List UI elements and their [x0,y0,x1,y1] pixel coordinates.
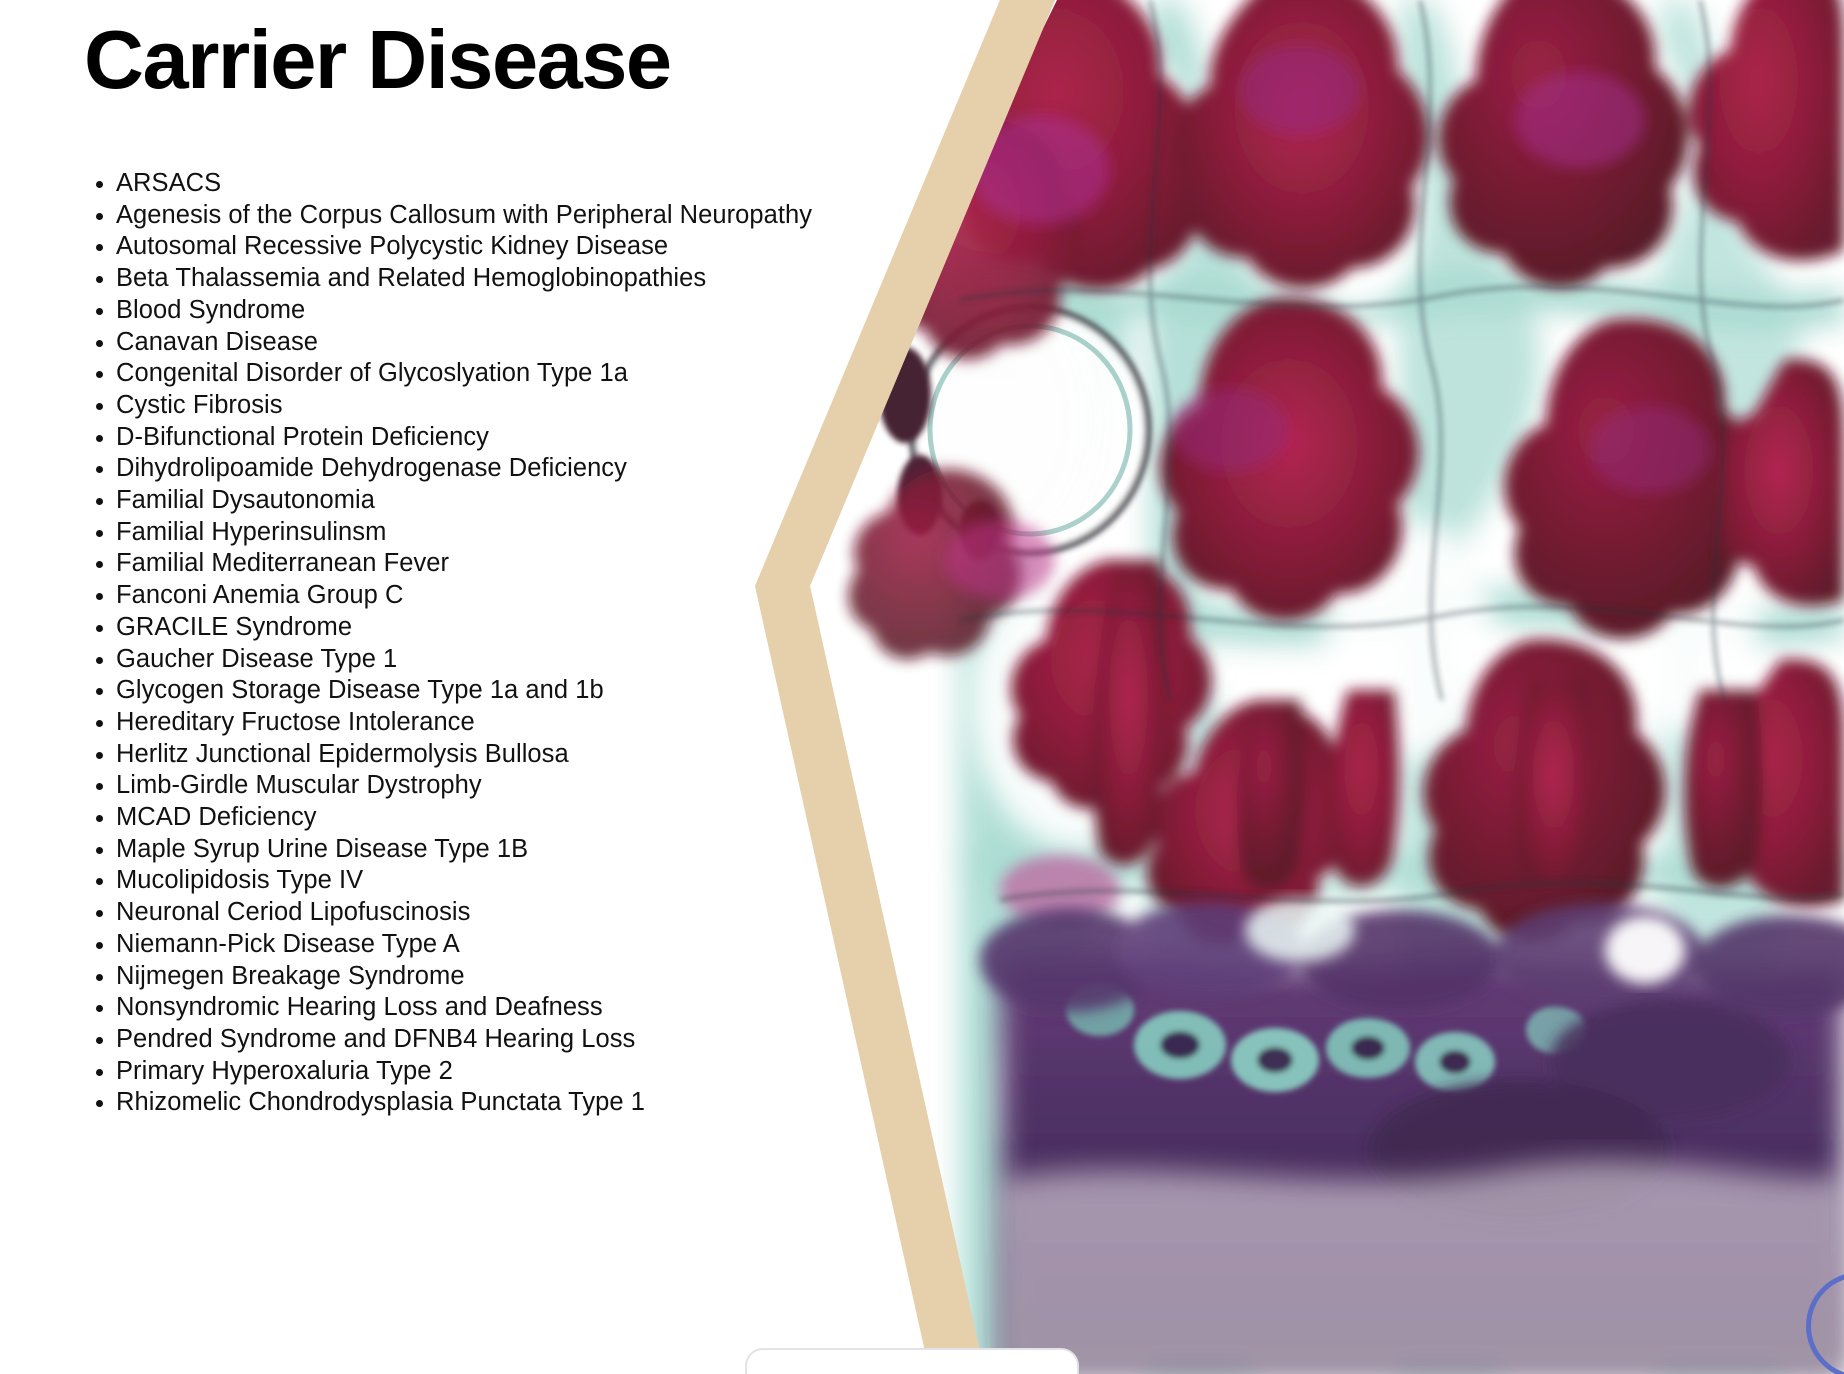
list-item: Autosomal Recessive Polycystic Kidney Di… [96,231,816,262]
list-item: MCAD Deficiency [96,802,816,833]
list-item: GRACILE Syndrome [96,612,816,643]
list-item: Nijmegen Breakage Syndrome [96,961,816,992]
text-panel: Carrier Disease ARSACSAgenesis of the Co… [0,0,940,1374]
list-item: Cystic Fibrosis [96,390,816,421]
list-item: Herlitz Junctional Epidermolysis Bullosa [96,739,816,770]
list-item: Nonsyndromic Hearing Loss and Deafness [96,992,816,1023]
list-item: Maple Syrup Urine Disease Type 1B [96,834,816,865]
list-item: Neuronal Ceriod Lipofuscinosis [96,897,816,928]
list-item: Agenesis of the Corpus Callosum with Per… [96,200,816,231]
slide-canvas: Carrier Disease ARSACSAgenesis of the Co… [0,0,1844,1374]
list-item: Glycogen Storage Disease Type 1a and 1b [96,675,816,706]
list-item: Blood Syndrome [96,295,816,326]
carrier-disease-list: ARSACSAgenesis of the Corpus Callosum wi… [62,168,816,1119]
list-item: D-Bifunctional Protein Deficiency [96,422,816,453]
list-item: Primary Hyperoxaluria Type 2 [96,1056,816,1087]
list-item: Mucolipidosis Type IV [96,865,816,896]
partial-rounded-card[interactable] [745,1348,1079,1374]
list-item: Congenital Disorder of Glycoslyation Typ… [96,358,816,389]
list-item: Hereditary Fructose Intolerance [96,707,816,738]
list-item: Dihydrolipoamide Dehydrogenase Deficienc… [96,453,816,484]
list-item: Familial Dysautonomia [96,485,816,516]
list-item: Fanconi Anemia Group C [96,580,816,611]
list-item: Niemann-Pick Disease Type A [96,929,816,960]
list-item: Beta Thalassemia and Related Hemoglobino… [96,263,816,294]
page-title: Carrier Disease [84,14,671,105]
list-item: Gaucher Disease Type 1 [96,644,816,675]
list-item: Limb-Girdle Muscular Dystrophy [96,770,816,801]
list-item: Familial Mediterranean Fever [96,548,816,579]
list-item: ARSACS [96,168,816,199]
list-item: Familial Hyperinsulinsm [96,517,816,548]
list-item: Canavan Disease [96,327,816,358]
list-item: Rhizomelic Chondrodysplasia Punctata Typ… [96,1087,816,1118]
list-item: Pendred Syndrome and DFNB4 Hearing Loss [96,1024,816,1055]
